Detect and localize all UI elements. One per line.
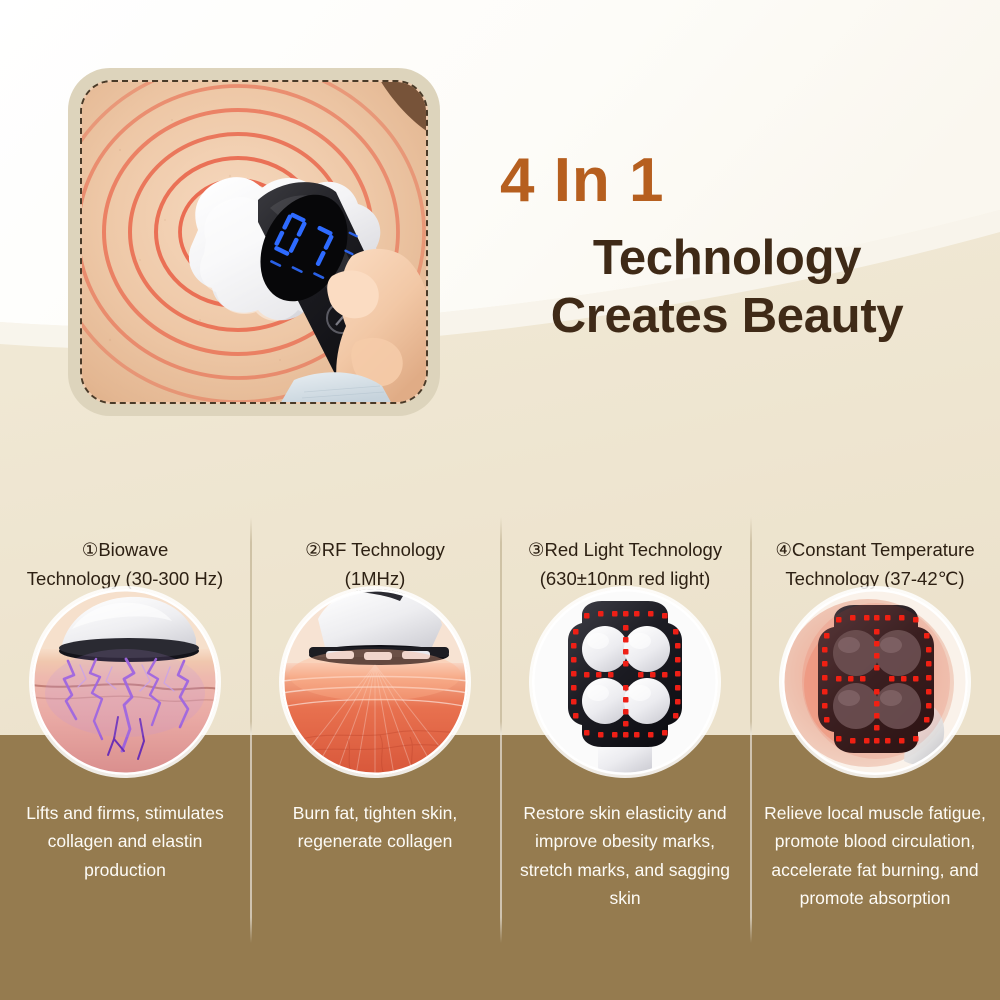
feature-title-constant-temperature: ④Constant Temperature Technology (37-42℃… bbox=[775, 515, 974, 577]
feature-column-rf: ②RF Technology (1MHz) bbox=[250, 515, 500, 955]
feature-title-line1: ①Biowave bbox=[82, 539, 169, 560]
hero-image-dashed-border bbox=[80, 80, 428, 404]
feature-title-line2: (1MHz) bbox=[345, 568, 406, 589]
feature-title-line2: Technology (30-300 Hz) bbox=[27, 568, 223, 589]
product-in-use-photo bbox=[80, 80, 428, 404]
feature-caption-biowave: Lifts and firms, stimulates collagen and… bbox=[8, 799, 242, 884]
rf-heat-waves-figure bbox=[282, 589, 468, 775]
feature-column-constant-temperature: ④Constant Temperature Technology (37-42℃… bbox=[750, 515, 1000, 955]
feature-columns: ①Biowave Technology (30-300 Hz) bbox=[0, 515, 1000, 955]
feature-title-rf: ②RF Technology (1MHz) bbox=[305, 515, 445, 577]
headline-line-creates-beauty: Creates Beauty bbox=[492, 288, 962, 346]
red-light-head-figure bbox=[532, 589, 718, 775]
feature-title-line2: Technology (37-42℃) bbox=[785, 568, 964, 589]
hero-image-frame bbox=[68, 68, 440, 416]
feature-title-red-light: ③Red Light Technology (630±10nm red ligh… bbox=[528, 515, 722, 577]
feature-caption-constant-temperature: Relieve local muscle fatigue, promote bl… bbox=[758, 799, 992, 912]
feature-title-line2: (630±10nm red light) bbox=[540, 568, 711, 589]
product-infographic-page: 4 In 1 Technology Creates Beauty ①Biowav… bbox=[0, 0, 1000, 1000]
feature-caption-rf: Burn fat, tighten skin, regenerate colla… bbox=[258, 799, 492, 856]
constant-temperature-head-figure bbox=[782, 589, 968, 775]
feature-title-biowave: ①Biowave Technology (30-300 Hz) bbox=[27, 515, 223, 577]
feature-title-line1: ②RF Technology bbox=[305, 539, 445, 560]
headline-block: 4 In 1 Technology Creates Beauty bbox=[492, 150, 962, 346]
feature-title-line1: ③Red Light Technology bbox=[528, 539, 722, 560]
headline-eyebrow: 4 In 1 bbox=[492, 150, 962, 212]
feature-column-red-light: ③Red Light Technology (630±10nm red ligh… bbox=[500, 515, 750, 955]
feature-column-biowave: ①Biowave Technology (30-300 Hz) bbox=[0, 515, 250, 955]
feature-title-line1: ④Constant Temperature bbox=[775, 539, 974, 560]
feature-caption-red-light: Restore skin elasticity and improve obes… bbox=[508, 799, 742, 912]
biowave-skin-layers-figure bbox=[32, 589, 218, 775]
headline-line-technology: Technology bbox=[492, 230, 962, 288]
